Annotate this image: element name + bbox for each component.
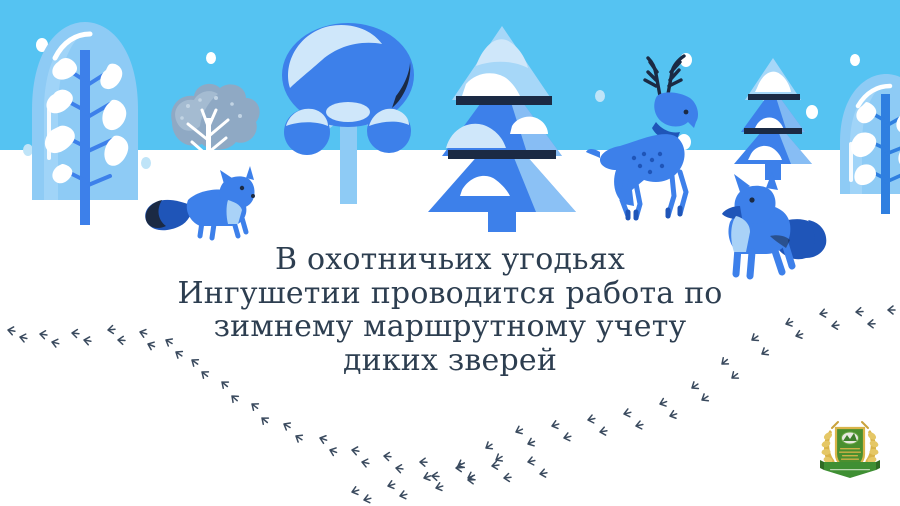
- snowflake: [269, 170, 279, 182]
- snowflake: [206, 52, 216, 64]
- round-tree-cap: [326, 102, 370, 122]
- deer-eye: [684, 110, 689, 115]
- snowflake: [422, 156, 432, 168]
- round-tree-berry-right: [367, 109, 411, 153]
- snowflake: [595, 90, 605, 102]
- pine-tree-small-band-top: [748, 94, 800, 100]
- snowflake: [23, 144, 33, 156]
- winter-poster: В охотничьих угодьях Ингушетии проводитс…: [0, 0, 900, 506]
- fox-right-eye: [749, 197, 754, 202]
- pine-tree-small-band-mid: [744, 128, 802, 134]
- winter-scene-illustration: [0, 0, 900, 506]
- snowflake: [850, 54, 860, 66]
- snowflake: [141, 157, 151, 169]
- snowflake: [806, 105, 818, 119]
- dome-tree-left: [32, 22, 138, 225]
- snowflake: [680, 53, 692, 67]
- ministry-emblem: [818, 412, 882, 482]
- ribbon-banner: [820, 460, 880, 478]
- round-tree-berry-left: [284, 109, 330, 155]
- crest-medallion: [842, 432, 859, 444]
- pine-tree-large-band-top: [456, 96, 552, 105]
- pine-tree-large-band-mid: [448, 150, 556, 159]
- fox-left-eye: [240, 186, 244, 190]
- fox-left-nose: [251, 194, 255, 198]
